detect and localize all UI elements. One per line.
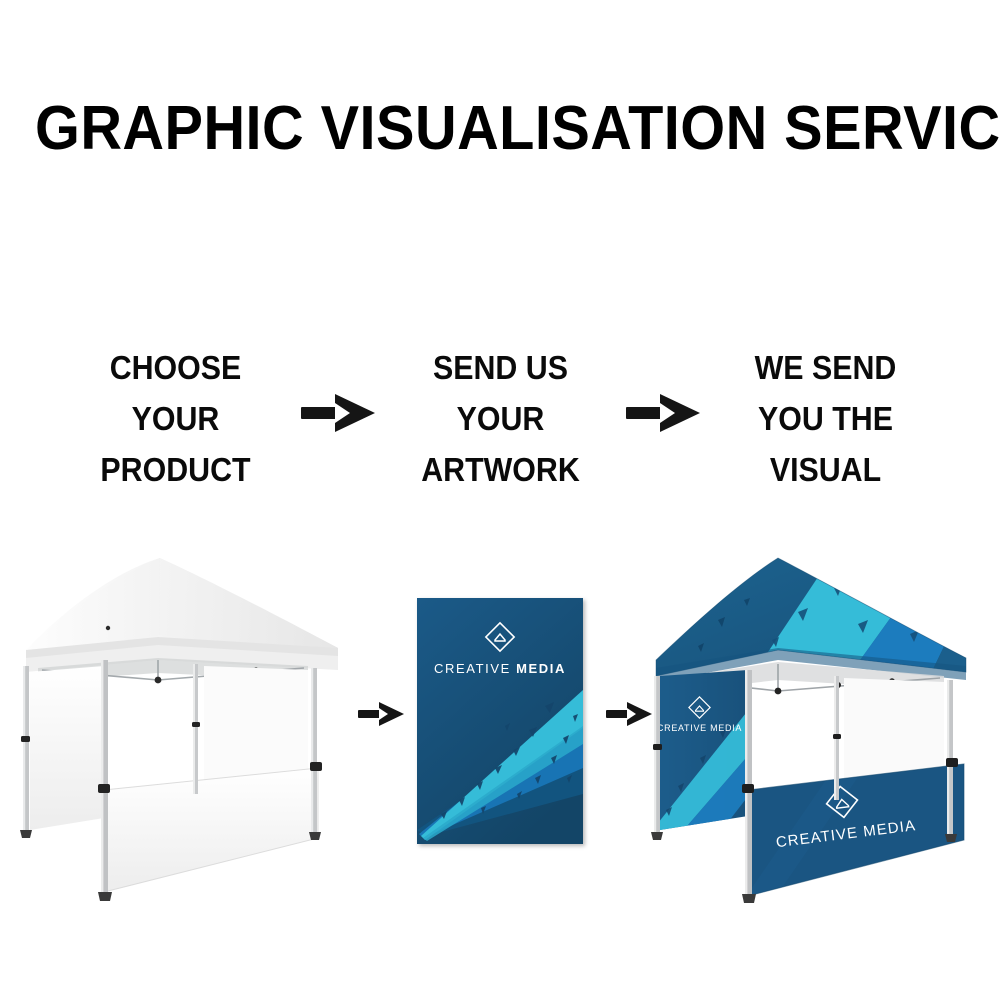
step-line: PRODUCT [76, 444, 274, 495]
arrow-right-icon [626, 394, 700, 432]
artwork-file-preview: CREATIVE MEDIA [417, 598, 583, 844]
header-arrow-1-slot [283, 342, 393, 432]
arrow-right-icon [606, 702, 652, 726]
arrow-right-icon [358, 702, 404, 726]
brand-word-creative: CREATIVE [434, 661, 511, 676]
blank-gazebo-tent [8, 540, 358, 920]
step-line: VISUAL [726, 444, 924, 495]
step-line: YOUR [76, 393, 274, 444]
printed-gazebo-tent: CREATIVE MEDIA CREATIVE MEDIA [648, 548, 996, 908]
tent-side-wall-left [30, 666, 104, 830]
step-line: WE SEND [726, 342, 924, 393]
artwork-brand-text: CREATIVE MEDIA [417, 661, 583, 676]
step-line: ARTWORK [401, 444, 599, 495]
brand-word-media: MEDIA [516, 661, 566, 676]
svg-text:CREATIVE MEDIA: CREATIVE MEDIA [657, 723, 742, 733]
diamond-monogram-icon [483, 620, 517, 654]
arrow-right-icon [301, 394, 375, 432]
page-title: GRAPHIC VISUALISATION SERVICE [35, 98, 965, 160]
step-line: YOU THE [726, 393, 924, 444]
header-arrow-2-slot [608, 342, 718, 432]
step-label-we-send-you-the-visual: WE SEND YOU THE VISUAL [726, 342, 924, 495]
artwork-branding: CREATIVE MEDIA [417, 620, 583, 676]
step-line: YOUR [401, 393, 599, 444]
tent-front-banner [104, 768, 318, 892]
step-label-choose-your-product: CHOOSE YOUR PRODUCT [76, 342, 274, 495]
step-line: SEND US [401, 342, 599, 393]
step-line: CHOOSE [76, 342, 274, 393]
steps-header-row: CHOOSE YOUR PRODUCT SEND US YOUR ARTWORK… [0, 342, 1000, 492]
step-label-send-us-your-artwork: SEND US YOUR ARTWORK [401, 342, 599, 495]
